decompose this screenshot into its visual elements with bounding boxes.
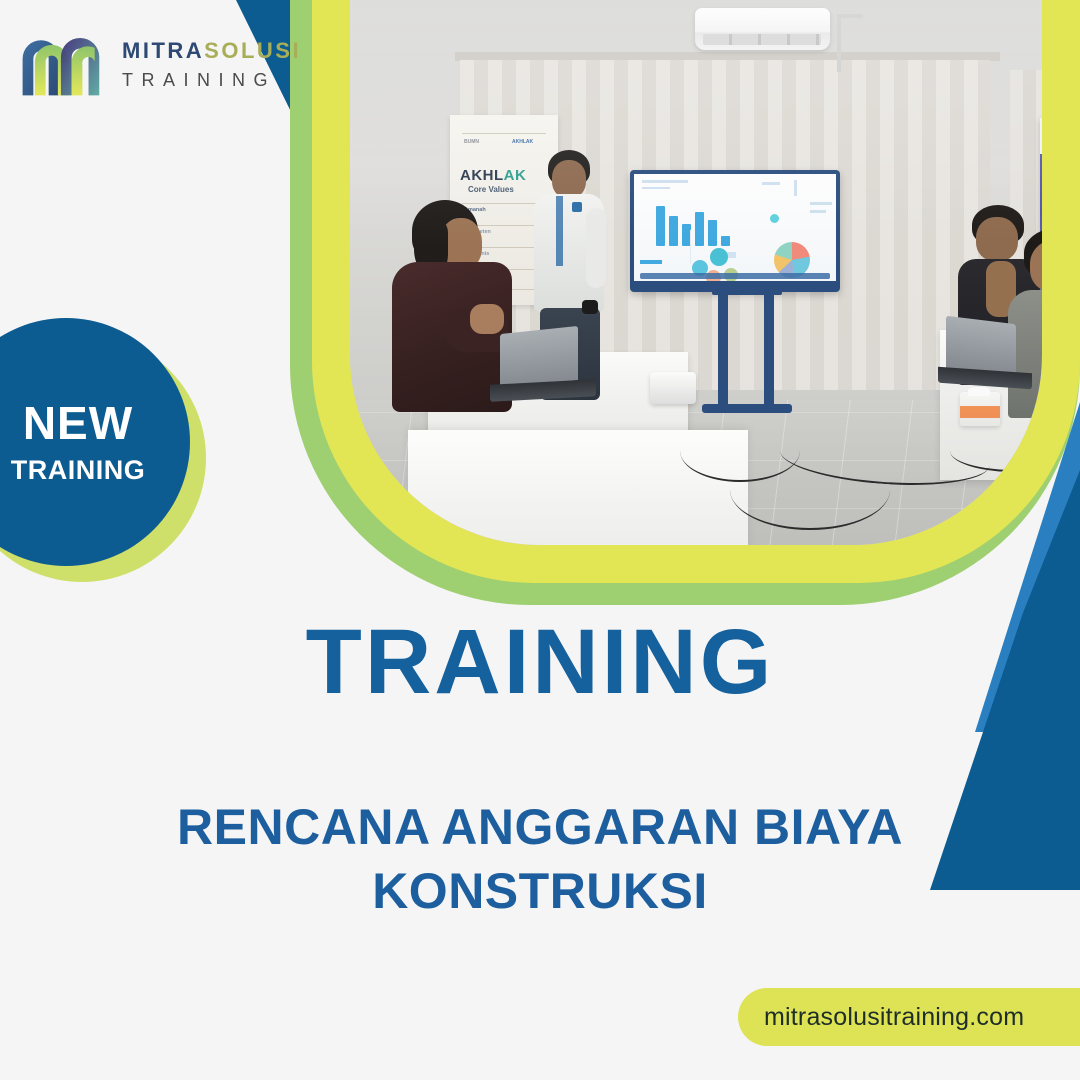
tissue-box [960, 392, 1000, 426]
laptop-screen [500, 326, 578, 388]
dashboard-bubble [770, 214, 779, 223]
training-room-photo: BUMN AKHLAK AKHLAK Core Values Amanah Ko… [350, 0, 1042, 545]
projector-box [650, 372, 696, 404]
badge-label-new: NEW [23, 400, 133, 446]
website-banner[interactable]: mitrasolusitraining.com [738, 988, 1080, 1046]
poster-akhlak-title-1: AKHL [460, 167, 504, 184]
website-url: mitrasolusitraining.com [764, 1003, 1024, 1032]
photo-frame-inner: BUMN AKHLAK AKHLAK Core Values Amanah Ko… [312, 0, 1080, 583]
photo-frame-outer: BUMN AKHLAK AKHLAK Core Values Amanah Ko… [290, 0, 1080, 605]
logo-text-training: TRAINING [122, 71, 301, 89]
tv-stand-column [764, 292, 774, 407]
presentation-screen [630, 170, 840, 292]
page-title: TRAINING [0, 616, 1080, 708]
ac-pipe-elbow [837, 14, 863, 18]
logo-text-mitra: MITRA [122, 38, 204, 63]
badge-label-training: TRAINING [11, 457, 146, 484]
page-subtitle: RENCANA ANGGARAN BIAYA KONSTRUKSI [70, 795, 1010, 923]
tv-stand-column [718, 292, 728, 407]
logo-wordmark: MITRASOLUSI TRAINING [122, 40, 301, 89]
tv-stand-foot [702, 404, 792, 413]
logo-mark-icon [18, 30, 110, 98]
screen-taskbar [640, 273, 830, 279]
new-training-badge[interactable]: NEW TRAINING [0, 318, 210, 586]
dashboard-bubble [710, 248, 728, 266]
poster-akhlak-title-2: AK [504, 167, 527, 184]
brand-logo[interactable]: MITRASOLUSI TRAINING [18, 30, 301, 98]
poster-akhlak-subtitle: Core Values [468, 185, 514, 194]
poster-header [1040, 118, 1042, 154]
air-conditioner-icon [695, 8, 830, 50]
ac-vent [703, 34, 821, 45]
logo-text-solusi: SOLUSI [204, 38, 301, 63]
photo-scene: BUMN AKHLAK AKHLAK Core Values Amanah Ko… [350, 0, 1042, 545]
dashboard-bar-chart [656, 200, 730, 246]
ac-pipe [837, 14, 841, 72]
screen-content [634, 174, 836, 281]
poster-canvas: BUMN AKHLAK AKHLAK Core Values Amanah Ko… [0, 0, 1080, 1080]
tissue-band [960, 406, 1000, 418]
tissue-sheet [968, 387, 990, 396]
